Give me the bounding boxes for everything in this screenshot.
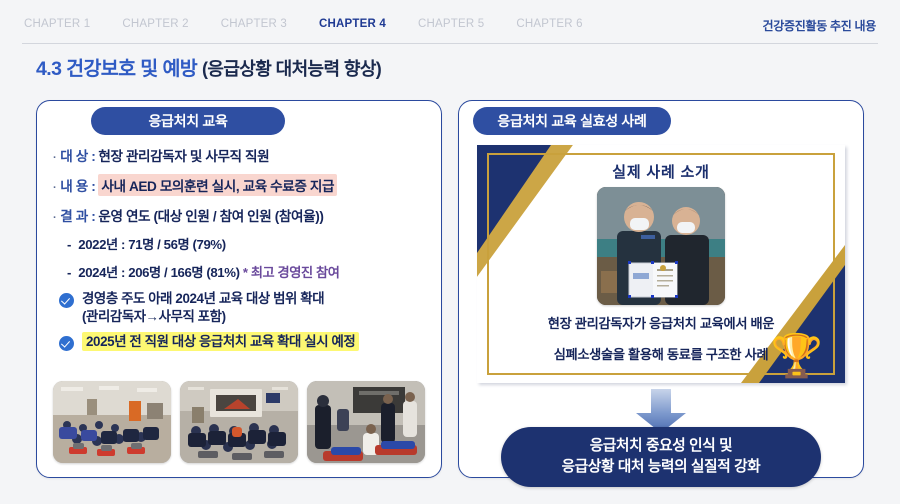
highlight-item-scope-expansion: 경영층 주도 아래 2024년 교육 대상 범위 확대 (관리감독자→사무직 포…	[59, 290, 429, 326]
header-section-label: 건강증진활동 추진 내용	[763, 17, 876, 34]
dash-icon: -	[67, 265, 71, 280]
detail-label-result: 결 과 :	[60, 205, 95, 225]
page-title: 4.3 건강보호 및 예방 (응급상황 대처능력 향상)	[36, 52, 381, 81]
result-year-2022: - 2022년 : 71명 / 56명 (79%)	[67, 234, 429, 253]
training-details-list: · 대 상 : 현장 관리감독자 및 사무직 직원 · 내 용 : 사내 AED…	[53, 145, 429, 358]
trophy-icon: 🏆	[771, 335, 823, 377]
result-banner-line-1: 응급처치 중요성 인식 및	[590, 436, 733, 457]
chapter-tab-3[interactable]: CHAPTER 3	[221, 18, 305, 30]
highlight-line-2: (관리감독자→사무직 포함)	[82, 308, 324, 326]
check-circle-icon	[59, 293, 74, 308]
case-description-line-1: 현장 관리감독자가 응급처치 교육에서 배운	[477, 313, 845, 332]
highlight-item-2025-plan: 2025년 전 직원 대상 응급처치 교육 확대 실시 예정	[59, 333, 429, 351]
result-banner: 응급처치 중요성 인식 및 응급상황 대처 능력의 실질적 강화	[501, 427, 821, 487]
case-study-panel: 응급처치 교육 실효성 사례 실제 사례 소개	[458, 100, 864, 478]
header-divider	[22, 43, 878, 44]
slide-canvas: CHAPTER 1 CHAPTER 2 CHAPTER 3 CHAPTER 4 …	[0, 0, 900, 504]
page-title-main: 4.3 건강보호 및 예방	[36, 58, 197, 80]
detail-row-target: · 대 상 : 현장 관리감독자 및 사무직 직원	[53, 145, 429, 165]
chapter-tab-bar: CHAPTER 1 CHAPTER 2 CHAPTER 3 CHAPTER 4 …	[24, 18, 615, 30]
chapter-tab-4[interactable]: CHAPTER 4	[319, 18, 404, 30]
detail-label-content: 내 용 :	[60, 175, 95, 195]
result-year-2024-note: * 최고 경영진 참여	[243, 265, 340, 280]
emergency-training-panel: 응급처치 교육 · 대 상 : 현장 관리감독자 및 사무직 직원 · 내 용 …	[36, 100, 442, 478]
bullet-dot-icon: ·	[53, 183, 56, 194]
detail-value-result: 운영 연도 (대상 인원 / 참여 인원 (참여율))	[98, 205, 323, 225]
detail-value-target: 현장 관리감독자 및 사무직 직원	[98, 145, 269, 165]
case-card-title: 실제 사례 소개	[477, 161, 845, 182]
left-panel-badge: 응급처치 교육	[91, 107, 285, 135]
chapter-tab-2[interactable]: CHAPTER 2	[122, 18, 206, 30]
chapter-tab-5[interactable]: CHAPTER 5	[418, 18, 502, 30]
detail-row-result: · 결 과 : 운영 연도 (대상 인원 / 참여 인원 (참여율))	[53, 205, 429, 225]
check-circle-icon	[59, 336, 74, 351]
result-year-2024-text: 2024년 : 206명 / 166명 (81%)	[78, 265, 239, 280]
detail-value-content: 사내 AED 모의훈련 실시, 교육 수료증 지급	[98, 174, 337, 196]
result-year-2024: - 2024년 : 206명 / 166명 (81%) * 최고 경영진 참여	[67, 262, 429, 281]
highlight-line-1: 경영층 주도 아래 2024년 교육 대상 범위 확대	[82, 291, 324, 306]
training-photo-strip	[53, 381, 427, 463]
page-title-sub: (응급상황 대처능력 향상)	[202, 59, 381, 79]
bullet-dot-icon: ·	[53, 213, 56, 224]
detail-label-target: 대 상 :	[60, 145, 95, 165]
cpr-training-projector-photo	[180, 381, 298, 463]
highlight-text-scope-expansion: 경영층 주도 아래 2024년 교육 대상 범위 확대 (관리감독자→사무직 포…	[82, 290, 324, 326]
case-study-card: 실제 사례 소개	[477, 145, 845, 383]
cpr-training-hall-photo	[53, 381, 171, 463]
award-recipients-photo	[597, 187, 725, 305]
bullet-dot-icon: ·	[53, 153, 56, 164]
dash-icon: -	[67, 237, 71, 252]
cpr-training-practice-photo	[307, 381, 425, 463]
chapter-tab-6[interactable]: CHAPTER 6	[516, 18, 600, 30]
detail-row-content: · 내 용 : 사내 AED 모의훈련 실시, 교육 수료증 지급	[53, 174, 429, 196]
right-panel-badge: 응급처치 교육 실효성 사례	[473, 107, 671, 135]
result-year-2022-text: 2022년 : 71명 / 56명 (79%)	[78, 237, 225, 252]
chapter-tab-1[interactable]: CHAPTER 1	[24, 18, 108, 30]
result-banner-line-2: 응급상황 대처 능력의 실질적 강화	[562, 457, 761, 478]
highlight-line-1: 2025년 전 직원 대상 응급처치 교육 확대 실시 예정	[82, 332, 359, 351]
slide-header: CHAPTER 1 CHAPTER 2 CHAPTER 3 CHAPTER 4 …	[0, 0, 900, 44]
highlight-text-2025-plan: 2025년 전 직원 대상 응급처치 교육 확대 실시 예정	[82, 333, 359, 351]
